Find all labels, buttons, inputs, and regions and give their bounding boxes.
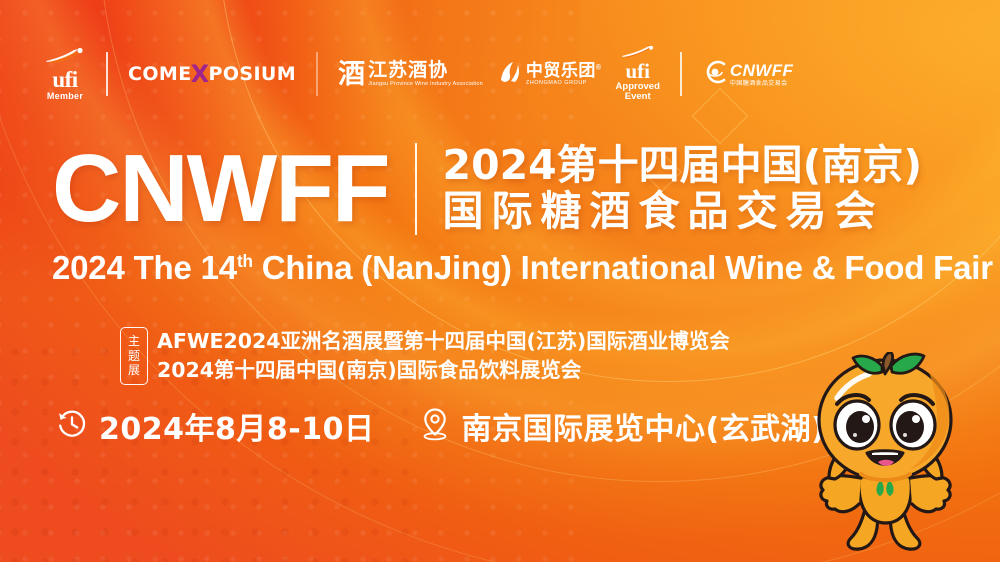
jiangsu-chinese-name: 江苏酒协 xyxy=(368,61,483,80)
event-date-text: 2024年8月8-10日 xyxy=(99,404,374,448)
logo-ufi-member[interactable]: ufi Member xyxy=(44,48,86,101)
event-venue-item: 南京国际展览中心(玄武湖) xyxy=(420,404,825,448)
logo-divider-3 xyxy=(680,52,682,96)
logo-divider-2 xyxy=(316,52,318,96)
event-venue-text: 南京国际展览中心(玄武湖) xyxy=(461,404,825,448)
ufi-wordmark: ufi xyxy=(52,68,77,91)
event-info-row: 2024年8月8-10日 南京国际展览中心(玄武湖) xyxy=(56,404,825,448)
zhongmao-chinese-name: 中贸乐团® xyxy=(526,62,602,79)
logo-jiangsu-wine-association[interactable]: 酒 江苏酒协 Jiangsu Province Wine Industry As… xyxy=(338,61,483,88)
badge-char-1: 主 xyxy=(128,334,140,349)
title-chinese-line1: 2024第十四届中国(南京) xyxy=(443,143,923,189)
logo-zhongmao-group[interactable]: 中贸乐团® ZHONGMAO GROUP xyxy=(497,59,602,89)
comexposium-part1: COME xyxy=(128,63,192,85)
title-divider xyxy=(415,143,417,235)
title-chinese-line2: 国际糖酒食品交易会 xyxy=(443,189,923,235)
zhongmao-english-name: ZHONGMAO GROUP xyxy=(526,81,602,87)
orange-fruit-mascot xyxy=(779,352,994,562)
subtitle-suffix: China (NanJing) International Wine & Foo… xyxy=(253,249,993,286)
comexposium-x-accent: X xyxy=(191,60,210,88)
registered-mark: ® xyxy=(596,64,602,71)
subtitle-ordinal: th xyxy=(237,251,253,271)
badge-char-3: 展 xyxy=(128,363,140,378)
page-title-acronym: CNWFF xyxy=(52,143,389,235)
main-title-row: CNWFF 2024第十四届中国(南京) 国际糖酒食品交易会 xyxy=(52,143,922,235)
logo-comexposium[interactable]: COME X POSIUM xyxy=(128,60,296,88)
ufi-approved-wordmark: ufi xyxy=(625,60,650,82)
logo-bar: ufi Member COME X POSIUM 酒 江苏酒协 Jiangsu … xyxy=(44,48,793,100)
theme-exhibition-badge: 主 题 展 xyxy=(120,327,148,385)
page-title-chinese: 2024第十四届中国(南京) 国际糖酒食品交易会 xyxy=(443,143,923,235)
cnwff-logo-wordmark: CNWFF xyxy=(730,62,793,79)
ufi-wing-icon xyxy=(44,48,86,67)
zhongmao-mark-icon xyxy=(497,59,523,89)
event-date-item: 2024年8月8-10日 xyxy=(56,404,374,448)
sub-exhibition-line-2: 2024第十四届中国(南京)国际食品饮料展览会 xyxy=(157,356,730,385)
sub-exhibitions-block: 主 题 展 AFWE2024亚洲名酒展暨第十四届中国(江苏)国际酒业博览会 20… xyxy=(120,327,730,385)
jiangsu-seal-icon: 酒 xyxy=(338,61,365,88)
badge-char-2: 题 xyxy=(128,349,140,364)
ufi-member-label: Member xyxy=(47,92,83,101)
cnwff-logo-chinese: 中国糖酒食品交易会 xyxy=(730,81,793,87)
subtitle-prefix: 2024 The 14 xyxy=(52,249,237,286)
clock-icon xyxy=(56,408,88,445)
location-pin-icon xyxy=(420,407,450,446)
logo-divider-1 xyxy=(106,52,108,96)
page-subtitle-english: 2024 The 14th China (NanJing) Internatio… xyxy=(52,249,993,287)
logo-ufi-approved-event[interactable]: ufi Approved Event xyxy=(616,46,660,103)
cnwff-globe-icon xyxy=(702,59,728,90)
promotional-banner: ufi Member COME X POSIUM 酒 江苏酒协 Jiangsu … xyxy=(0,0,1000,562)
jiangsu-english-name: Jiangsu Province Wine Industry Associati… xyxy=(368,82,483,88)
logo-cnwff[interactable]: CNWFF 中国糖酒食品交易会 xyxy=(702,59,793,90)
sub-exhibition-line-1: AFWE2024亚洲名酒展暨第十四届中国(江苏)国际酒业博览会 xyxy=(157,327,730,356)
ufi-approved-line2: Event xyxy=(625,92,651,102)
comexposium-part2: POSIUM xyxy=(209,63,297,85)
